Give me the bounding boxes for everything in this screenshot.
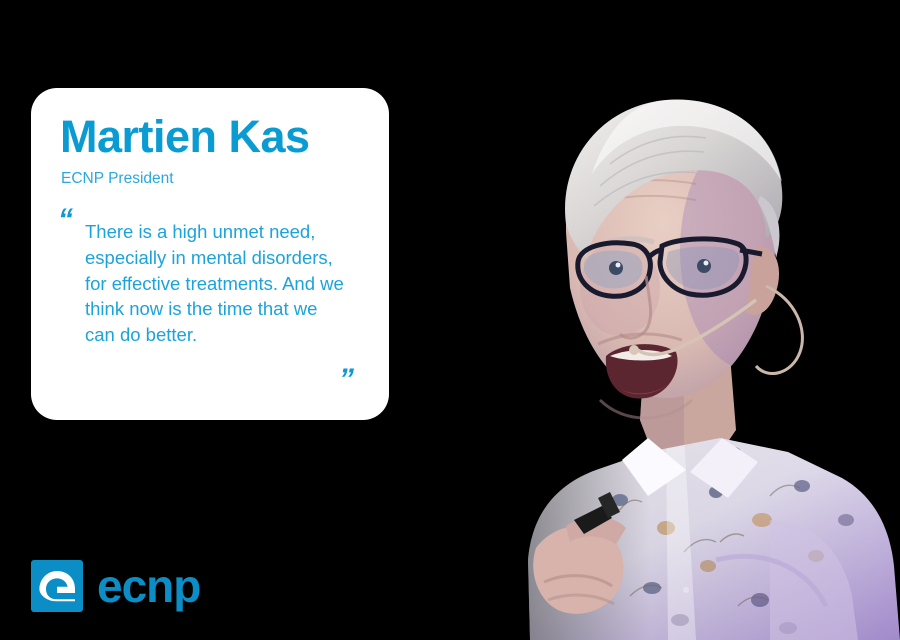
quote-text: There is a high unmet need, especially i… xyxy=(85,219,347,348)
ecnp-logo: ecnp xyxy=(31,560,200,612)
speaker-role: ECNP President xyxy=(61,170,174,189)
speaker-photo-illustration xyxy=(470,0,900,640)
quote-open-mark-icon: “ xyxy=(58,205,72,235)
ecnp-wordmark: ecnp xyxy=(97,563,200,609)
speaker-quote-card: Martien Kas ECNP President “ There is a … xyxy=(31,88,389,420)
quote-card-slide: Martien Kas ECNP President “ There is a … xyxy=(0,0,900,640)
speaker-name: Martien Kas xyxy=(60,113,310,160)
quote-close-mark-icon: ” xyxy=(339,365,353,395)
ecnp-e-monogram-icon xyxy=(31,560,83,612)
speaker-photo xyxy=(470,0,900,640)
